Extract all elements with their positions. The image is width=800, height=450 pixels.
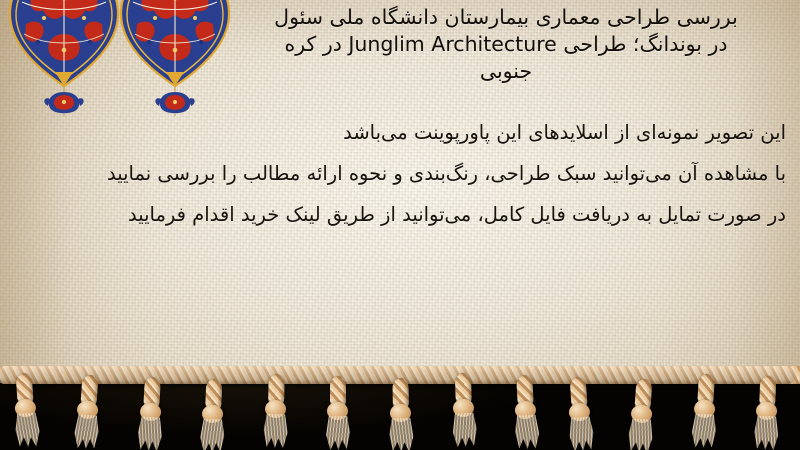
title-line-2: در بوندانگ؛ طراحی Junglim Architecture د… [226, 31, 786, 58]
tassel-skirt [263, 414, 288, 448]
body-line-3: در صورت تمایل به دریافت فایل کامل، می‌تو… [6, 194, 790, 235]
tassel-skirt [326, 416, 350, 450]
slide-title: بررسی طراحی معماری بیمارستان دانشگاه ملی… [226, 4, 786, 85]
tazhib-ornament-svg [0, 0, 250, 116]
tassel [388, 378, 415, 450]
tassel [137, 376, 167, 449]
tassel [451, 373, 479, 446]
tassel-skirt [691, 413, 717, 448]
tassel [74, 374, 105, 448]
tassel-skirt [754, 416, 779, 450]
tassel-skirt [14, 412, 40, 448]
title-line-3: جنوبی [226, 58, 786, 85]
slide-body-text: این تصویر نمونه‌ای از اسلایدهای این پاور… [6, 112, 790, 235]
tassel [263, 374, 290, 446]
tassel-skirt [389, 418, 414, 450]
body-line-1: این تصویر نمونه‌ای از اسلایدهای این پاور… [6, 112, 790, 153]
title-line-1: بررسی طراحی معماری بیمارستان دانشگاه ملی… [226, 4, 786, 31]
tassel [754, 376, 782, 449]
slide-canvas: بررسی طراحی معماری بیمارستان دانشگاه ملی… [0, 0, 800, 450]
tassel-skirt [73, 414, 99, 450]
tassel [566, 376, 597, 450]
body-line-2: با مشاهده آن می‌توانید سبک طراحی، رنگ‌بن… [6, 153, 790, 194]
illumination-medallion-right [121, 0, 229, 86]
illumination-pendant-right [155, 92, 194, 116]
tassel-skirt [514, 414, 540, 449]
illumination-ornament-group [0, 0, 250, 116]
illumination-medallion-left [10, 0, 118, 86]
tassel [628, 378, 659, 450]
tassel [200, 379, 228, 450]
tassel [512, 374, 542, 447]
tassel [691, 373, 721, 446]
tassel-skirt [627, 418, 653, 450]
tassel-skirt [137, 416, 163, 450]
tassel-skirt [452, 413, 477, 448]
tassel-skirt [568, 416, 594, 450]
tassel [326, 376, 352, 448]
tassel [12, 372, 43, 446]
illumination-pendant-left [44, 92, 83, 116]
tassel-skirt [200, 419, 225, 450]
tassel-fringe-band [0, 366, 800, 450]
